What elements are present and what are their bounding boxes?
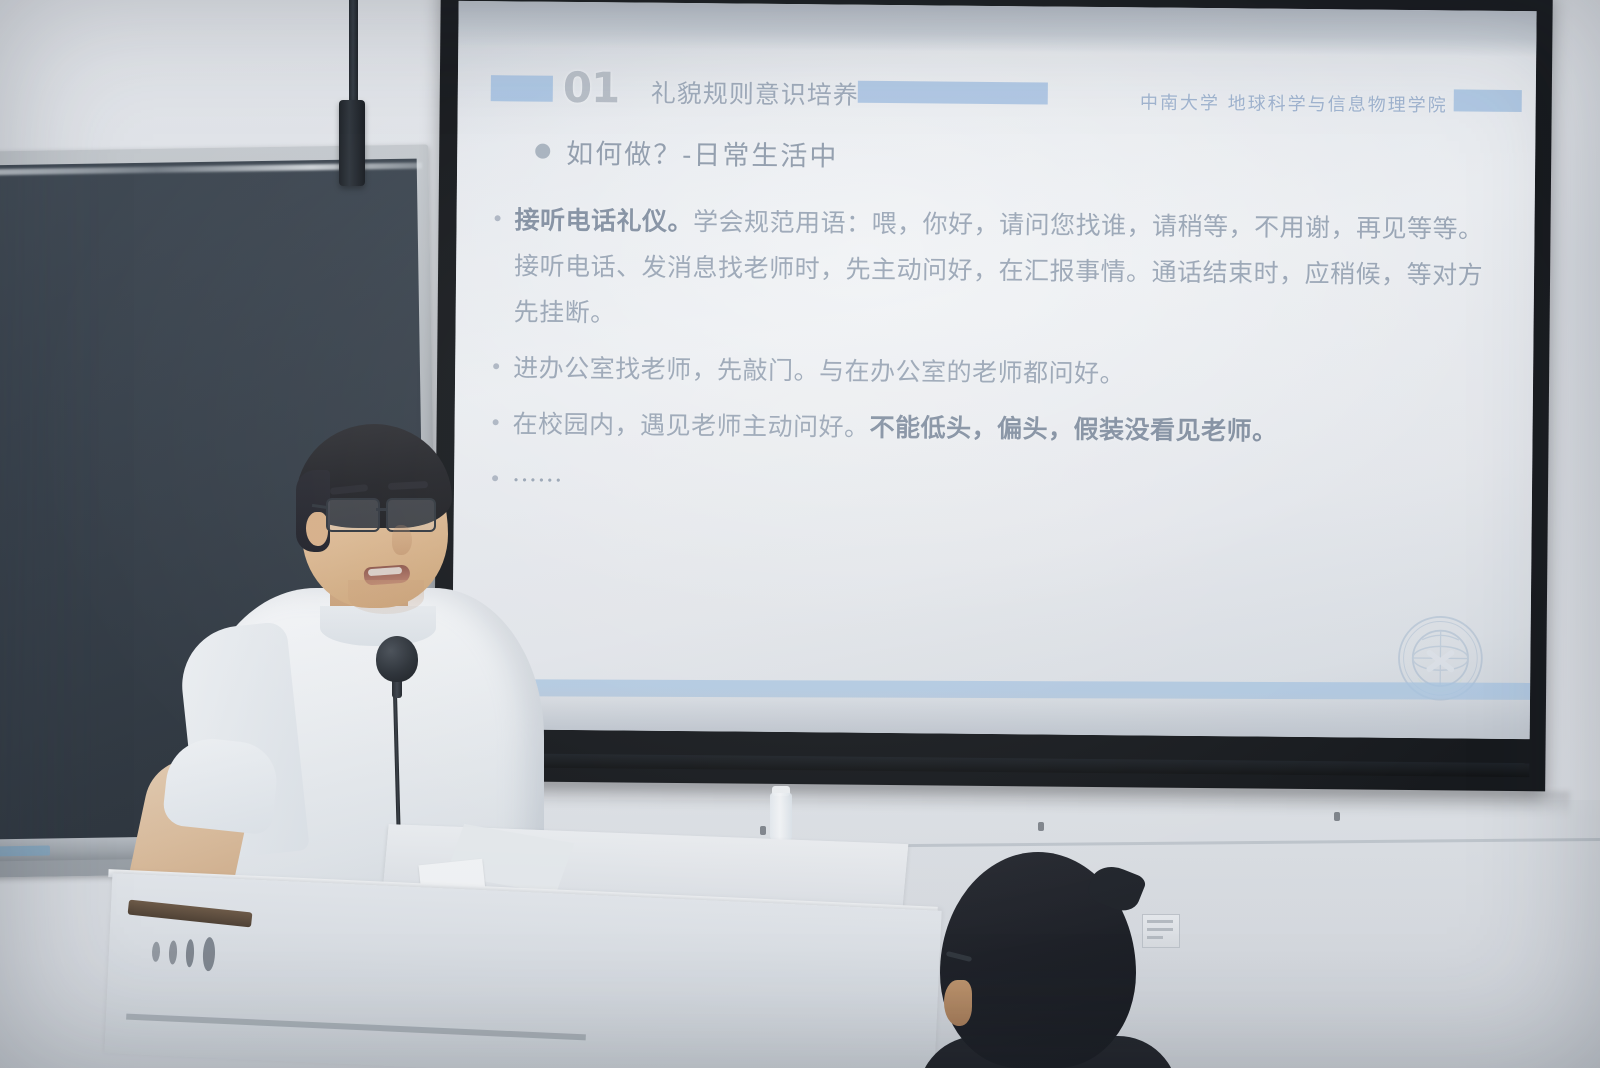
wall-switch-plate — [1142, 914, 1180, 948]
list-item-emphasis: 不能低头，偏头，假装没看见老师。 — [869, 413, 1277, 446]
switch-slot — [1147, 920, 1173, 923]
list-bullet-icon — [495, 215, 501, 221]
list-item-lead: 接听电话礼仪。 — [514, 205, 693, 236]
wall-mount-screw — [1038, 822, 1044, 831]
ceiling-speaker-unit — [339, 100, 365, 186]
switch-slot — [1147, 936, 1163, 939]
list-item-text: 进办公室找老师，先敲门。与在办公室的老师都问好。 — [513, 345, 1125, 397]
section-title: 礼貌规则意识培养 — [651, 74, 859, 112]
list-item: 在校园内，遇见老师主动问好。不能低头，偏头，假装没看见老师。 — [492, 401, 1492, 457]
organization-name: 中南大学 地球科学与信息物理学院 — [1140, 88, 1448, 117]
list-item-text: 接听电话礼仪。学会规范用语：喂，你好，请问您找谁，请稍等，不用谢，再见等等。接听… — [513, 197, 1494, 344]
header-accent-middle-bar — [858, 81, 1048, 105]
switch-slot — [1147, 928, 1173, 931]
header-accent-right-bar — [1454, 89, 1522, 112]
grille-slot — [168, 940, 177, 964]
list-item: 接听电话礼仪。学会规范用语：喂，你好，请问您找谁，请稍等，不用谢，再见等等。接听… — [493, 197, 1494, 345]
ceiling-speaker-rod — [349, 0, 358, 108]
microphone-icon — [376, 636, 418, 682]
slide-subheading-row: 如何做？-日常生活中 — [535, 132, 838, 174]
grille-slot — [202, 937, 216, 972]
water-bottle — [770, 793, 792, 841]
list-item: ······ — [492, 457, 1492, 513]
eyeglasses-icon — [326, 498, 450, 532]
wall-mount-screw — [1334, 812, 1340, 821]
list-item-body: 在校园内，遇见老师主动问好。 — [512, 409, 869, 441]
slide-top-shading — [458, 1, 1536, 57]
list-item-body: 进办公室找老师，先敲门。与在办公室的老师都问好。 — [513, 353, 1125, 388]
speaker-nose — [392, 525, 412, 555]
list-item-text: ······ — [512, 457, 563, 503]
list-item: 进办公室找老师，先敲门。与在办公室的老师都问好。 — [493, 345, 1493, 401]
list-item-text: 在校园内，遇见老师主动问好。不能低头，偏头，假装没看见老师。 — [512, 401, 1277, 454]
list-item-body: ······ — [512, 465, 563, 494]
speaker-ear — [306, 512, 328, 546]
blackboard-tray-item — [0, 846, 50, 857]
slide-bottom-shading — [452, 685, 1530, 739]
classroom-photo: 01 礼貌规则意识培养 中南大学 地球科学与信息物理学院 如何做？-日常生活中 … — [0, 0, 1600, 1068]
grille-slot — [152, 942, 161, 962]
header-accent-left-bar — [491, 75, 553, 102]
wall-mount-screw — [760, 826, 766, 835]
display-bezel: 01 礼貌规则意识培养 中南大学 地球科学与信息物理学院 如何做？-日常生活中 … — [433, 0, 1553, 791]
display-bottom-bezel — [451, 753, 1529, 777]
list-bullet-icon — [493, 419, 499, 425]
list-bullet-icon — [492, 475, 498, 481]
section-number: 01 — [563, 63, 620, 113]
audience-ear — [944, 980, 972, 1026]
presentation-slide: 01 礼貌规则意识培养 中南大学 地球科学与信息物理学院 如何做？-日常生活中 … — [452, 1, 1537, 739]
slide-body: 接听电话礼仪。学会规范用语：喂，你好，请问您找谁，请稍等，不用谢，再见等等。接听… — [492, 197, 1495, 523]
slide-subheading: 如何做？-日常生活中 — [566, 132, 838, 174]
eyeglass-lens-left — [326, 498, 380, 532]
podium-speaker-grille — [151, 935, 215, 972]
bullet-dot-icon — [535, 144, 550, 159]
eyeglass-lens-right — [386, 498, 436, 532]
speaker-chin-shadow — [348, 580, 424, 614]
grille-slot — [185, 939, 194, 967]
slide-header: 01 礼貌规则意识培养 中南大学 地球科学与信息物理学院 — [458, 69, 1536, 125]
list-bullet-icon — [493, 363, 499, 369]
display-screen: 01 礼貌规则意识培养 中南大学 地球科学与信息物理学院 如何做？-日常生活中 … — [452, 1, 1537, 739]
